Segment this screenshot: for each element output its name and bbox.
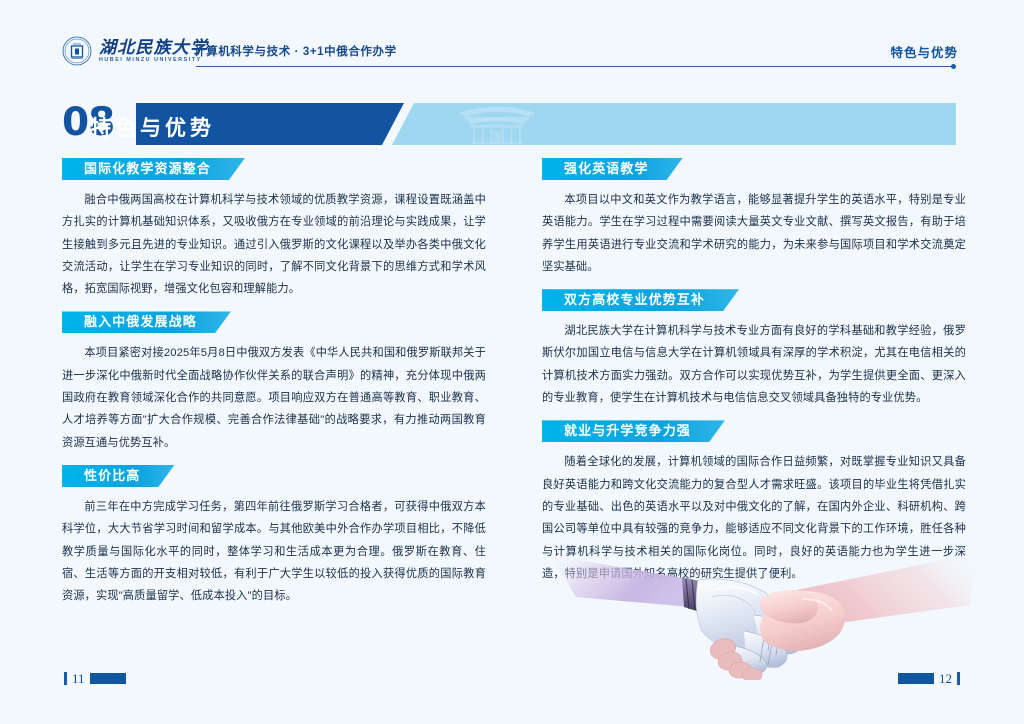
subsection-tag: 性价比高	[62, 465, 174, 487]
university-seal-icon	[62, 36, 92, 66]
section-title: 特色与优势	[90, 112, 215, 142]
footer-right-page: 12	[898, 672, 960, 685]
left-content-column: 国际化教学资源整合 融合中俄两国高校在计算机科学与技术领域的优质教学资源，课程设…	[62, 158, 486, 618]
subsection-tag-row: 双方高校专业优势互补	[542, 289, 966, 320]
subsection-tag: 国际化教学资源整合	[62, 158, 245, 180]
subsection-body: 湖北民族大学在计算机科学与技术专业方面有良好的学科基础和教学经验，俄罗斯伏尔加国…	[542, 320, 966, 409]
subsection-tag: 融入中俄发展战略	[62, 311, 231, 333]
footer-accent-bar	[64, 672, 67, 685]
page-number-left: 11	[72, 672, 85, 685]
right-content-column: 强化英语教学 本项目以中文和英文作为教学语言，能够显著提升学生的英语水平，特别是…	[542, 158, 966, 596]
subsection-tag-row: 融入中俄发展战略	[62, 311, 486, 342]
subsection-tag: 强化英语教学	[542, 158, 683, 180]
header-divider-dot	[951, 64, 956, 69]
subsection-block: 融入中俄发展战略 本项目紧密对接2025年5月8日中俄双方发表《中华人民共和国和…	[62, 311, 486, 453]
header-section-label: 特色与优势	[890, 42, 958, 61]
subsection-tag-row: 强化英语教学	[542, 158, 966, 189]
page-canvas: 湖北民族大学 HUBEI MINZU UNIVERSITY 计算机科学与技术 ·…	[0, 0, 1024, 724]
footer-accent-bar	[957, 672, 960, 685]
header-divider-line	[196, 66, 954, 67]
subsection-tag-label: 就业与升学竞争力强	[564, 423, 691, 438]
subsection-tag-label: 融入中俄发展战略	[84, 314, 197, 329]
pavilion-watermark-icon	[454, 100, 540, 146]
subsection-tag-row: 就业与升学竞争力强	[542, 420, 966, 451]
subsection-tag-label: 强化英语教学	[564, 161, 649, 176]
subsection-block: 强化英语教学 本项目以中文和英文作为教学语言，能够显著提升学生的英语水平，特别是…	[542, 158, 966, 278]
subsection-tag: 就业与升学竞争力强	[542, 420, 725, 442]
university-name-cn: 湖北民族大学	[99, 39, 208, 56]
subsection-body: 前三年在中方完成学习任务，第四年前往俄罗斯学习合格者，可获得中俄双方本科学位，大…	[62, 496, 486, 607]
footer-block-bar	[898, 673, 934, 684]
subsection-tag: 双方高校专业优势互补	[542, 289, 739, 311]
subsection-body: 融合中俄两国高校在计算机科学与技术领域的优质教学资源，课程设置既涵盖中方扎实的计…	[62, 189, 486, 300]
subsection-tag-row: 国际化教学资源整合	[62, 158, 486, 189]
page-header: 湖北民族大学 HUBEI MINZU UNIVERSITY 计算机科学与技术 ·…	[0, 0, 1024, 88]
subsection-body: 本项目以中文和英文作为教学语言，能够显著提升学生的英语水平，特别是专业英语能力。…	[542, 189, 966, 278]
section-banner: 08 特色与优势	[62, 103, 956, 145]
subsection-block: 双方高校专业优势互补 湖北民族大学在计算机科学与技术专业方面有良好的学科基础和教…	[542, 289, 966, 409]
subsection-tag-row: 性价比高	[62, 465, 486, 496]
subsection-tag-label: 性价比高	[84, 468, 140, 483]
subsection-tag-label: 双方高校专业优势互补	[564, 292, 705, 307]
university-name-block: 湖北民族大学 HUBEI MINZU UNIVERSITY	[99, 39, 208, 64]
header-program-title: 计算机科学与技术 · 3+1中俄合作办学	[194, 43, 397, 59]
footer-left-page: 11	[64, 672, 126, 685]
subsection-block: 国际化教学资源整合 融合中俄两国高校在计算机科学与技术领域的优质教学资源，课程设…	[62, 158, 486, 300]
subsection-body: 本项目紧密对接2025年5月8日中俄双方发表《中华人民共和国和俄罗斯联邦关于进一…	[62, 342, 486, 453]
subsection-tag-label: 国际化教学资源整合	[84, 161, 211, 176]
page-number-right: 12	[939, 672, 952, 685]
robot-human-handshake-image	[540, 545, 988, 680]
university-logo: 湖北民族大学 HUBEI MINZU UNIVERSITY	[62, 36, 208, 66]
subsection-block: 性价比高 前三年在中方完成学习任务，第四年前往俄罗斯学习合格者，可获得中俄双方本…	[62, 465, 486, 607]
footer-block-bar	[90, 673, 126, 684]
